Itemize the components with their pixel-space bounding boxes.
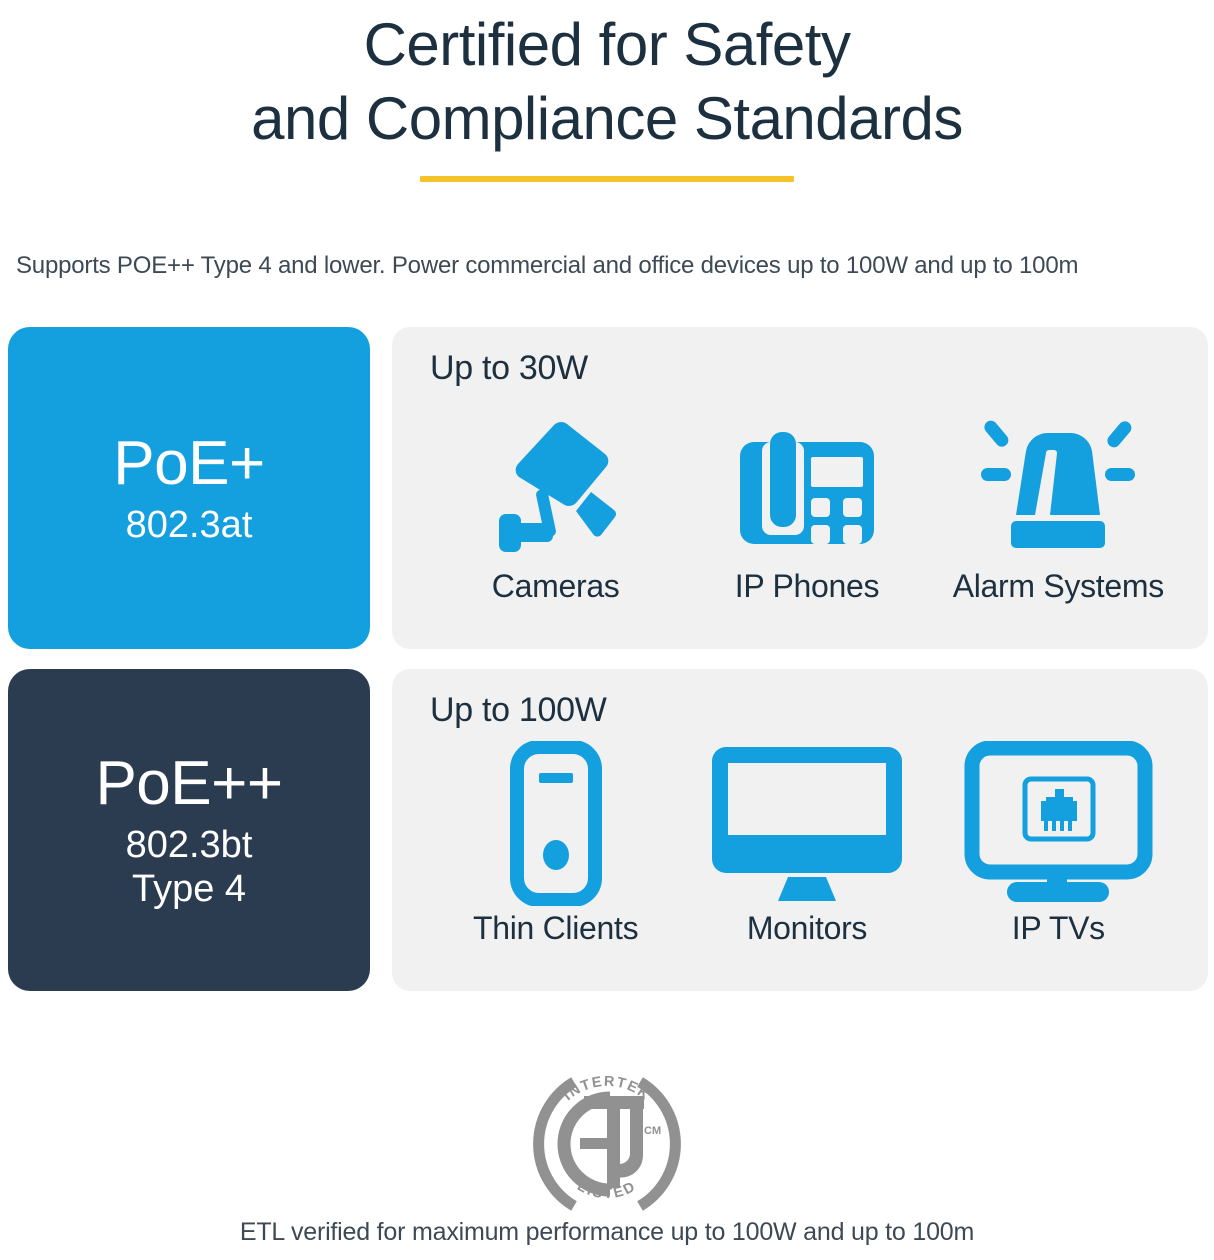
alarm-siren-icon — [978, 396, 1138, 566]
poe-plus-badge-title: PoE+ — [113, 429, 264, 499]
device-item-cameras: Cameras — [430, 396, 681, 605]
poe-plus-row: PoE+ 802.3at Up to 30W — [8, 327, 1208, 649]
device-label-alarm-systems: Alarm Systems — [953, 568, 1164, 605]
device-label-cameras: Cameras — [492, 568, 620, 605]
poe-plusplus-row: PoE++ 802.3bt Type 4 Up to 100W Thin Cli… — [8, 669, 1208, 991]
poe-plus-devices-panel: Up to 30W Cameras — [392, 327, 1208, 649]
subtitle-text: Supports POE++ Type 4 and lower. Power c… — [16, 252, 1206, 280]
poe-plusplus-devices-panel: Up to 100W Thin Clients — [392, 669, 1208, 991]
heading-underline-rule — [420, 176, 794, 182]
poe-plusplus-badge: PoE++ 802.3bt Type 4 — [8, 669, 370, 991]
etl-logo: CM INTERTEK LISTED — [0, 1060, 1214, 1215]
poe-plusplus-standard-line-1: 802.3bt — [126, 823, 253, 867]
page-heading: Certified for Safety and Compliance Stan… — [0, 0, 1214, 182]
device-item-ip-tvs: IP TVs — [933, 738, 1184, 947]
etl-caption-text: ETL verified for maximum performance up … — [0, 1218, 1214, 1247]
device-item-alarm-systems: Alarm Systems — [933, 396, 1184, 605]
device-label-ip-tvs: IP TVs — [1012, 910, 1105, 947]
etl-superscript-text: CM — [644, 1125, 661, 1137]
heading-line-1: Certified for Safety — [0, 0, 1214, 82]
poe-plusplus-power-label: Up to 100W — [430, 691, 1184, 730]
poe-plus-badge: PoE+ 802.3at — [8, 327, 370, 649]
heading-line-2: and Compliance Standards — [0, 82, 1214, 156]
etl-bottom-arc-text: LISTED — [574, 1178, 639, 1202]
device-item-ip-phones: IP Phones — [681, 396, 932, 605]
device-item-thin-clients: Thin Clients — [430, 738, 681, 947]
security-camera-icon — [481, 396, 631, 566]
poe-plus-badge-standard: 802.3at — [126, 503, 253, 547]
ip-tv-icon — [961, 738, 1156, 908]
ip-phone-icon — [732, 396, 882, 566]
thin-client-icon — [501, 738, 611, 908]
poe-plus-item-list: Cameras — [430, 396, 1184, 605]
poe-plusplus-standard-line-2: Type 4 — [126, 867, 253, 911]
poe-plusplus-badge-standard: 802.3bt Type 4 — [126, 823, 253, 911]
device-item-monitors: Monitors — [681, 738, 932, 947]
device-label-ip-phones: IP Phones — [735, 568, 879, 605]
device-label-monitors: Monitors — [747, 910, 867, 947]
monitor-icon — [712, 738, 902, 908]
poe-plus-power-label: Up to 30W — [430, 349, 1184, 388]
poe-plusplus-item-list: Thin Clients Monitors — [430, 738, 1184, 947]
device-label-thin-clients: Thin Clients — [473, 910, 638, 947]
poe-plusplus-badge-title: PoE++ — [95, 749, 282, 819]
